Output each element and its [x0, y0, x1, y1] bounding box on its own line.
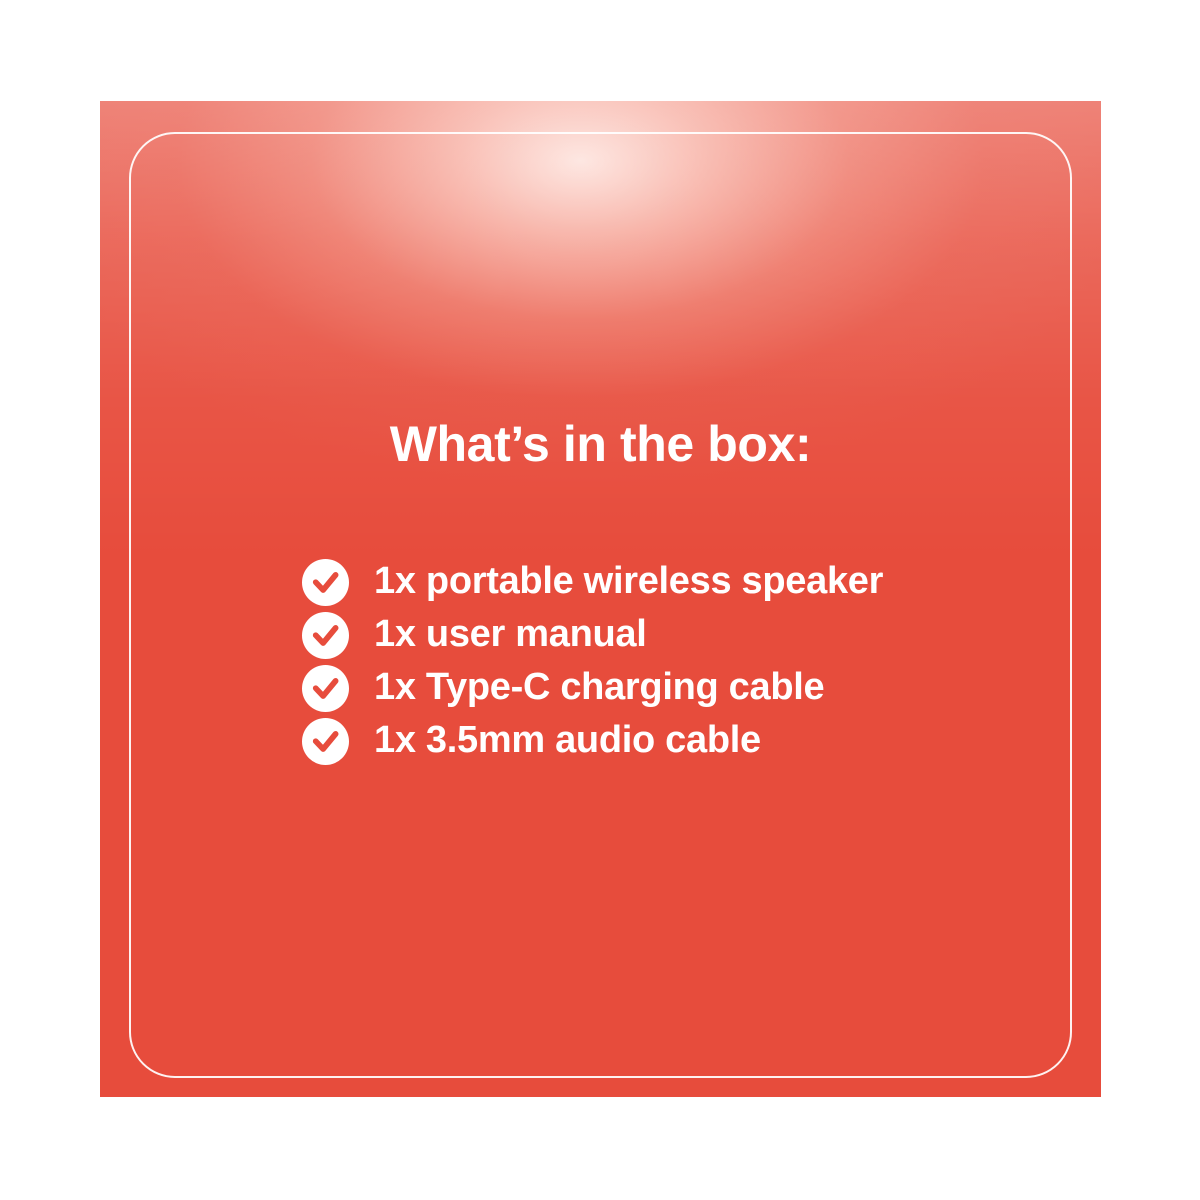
red-product-panel: What’s in the box: 1x portable wireless … [100, 101, 1101, 1097]
check-circle-icon [302, 718, 349, 765]
list-item-label: 1x user manual [374, 615, 647, 655]
page-title: What’s in the box: [100, 417, 1101, 472]
list-item: 1x Type-C charging cable [302, 664, 1022, 712]
check-circle-icon [302, 665, 349, 712]
list-item-label: 1x portable wireless speaker [374, 562, 883, 602]
box-contents-list: 1x portable wireless speaker 1x user man… [302, 558, 1022, 770]
list-item-label: 1x Type-C charging cable [374, 668, 824, 708]
check-circle-icon [302, 612, 349, 659]
list-item: 1x user manual [302, 611, 1022, 659]
list-item: 1x 3.5mm audio cable [302, 717, 1022, 765]
product-infographic-canvas: What’s in the box: 1x portable wireless … [0, 0, 1200, 1200]
list-item-label: 1x 3.5mm audio cable [374, 721, 761, 761]
list-item: 1x portable wireless speaker [302, 558, 1022, 606]
check-circle-icon [302, 559, 349, 606]
panel-content: What’s in the box: 1x portable wireless … [100, 101, 1101, 1097]
